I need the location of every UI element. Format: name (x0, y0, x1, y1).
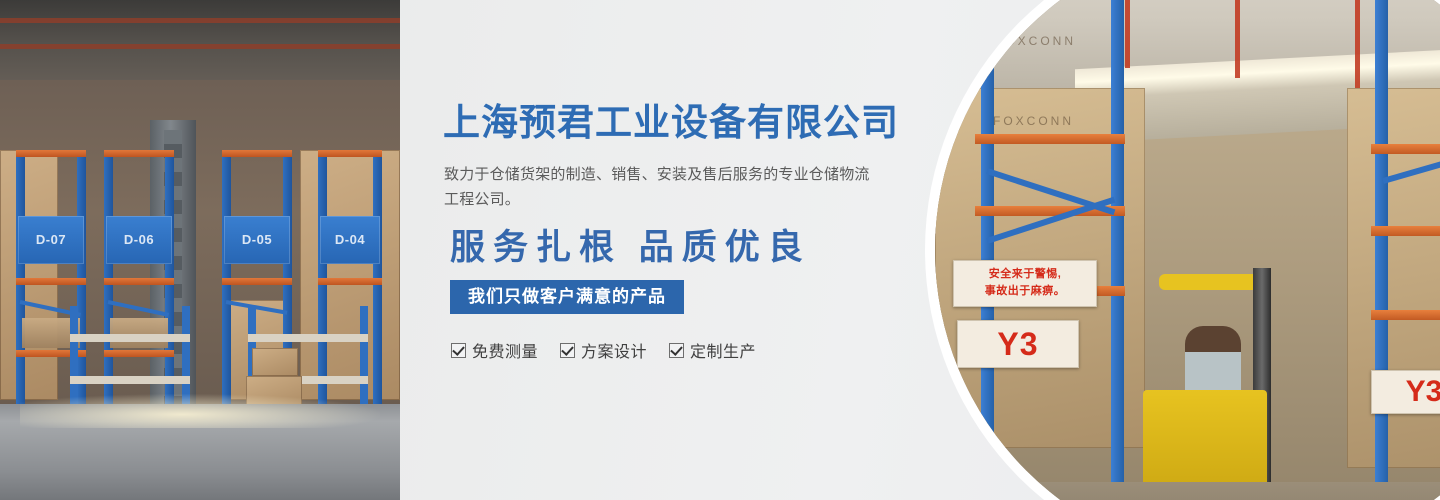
warehouse-drive-in-racking-photo: D-07 D-06 D-05 (0, 0, 400, 500)
aisle-marker-text: Y3 (958, 321, 1078, 367)
warehouse-floor (935, 482, 1440, 500)
checkbox-checked-icon (451, 343, 466, 358)
feature-item-free-measurement: 免费测量 (451, 338, 538, 362)
carton-brand-label: FOXCONN (995, 34, 1076, 48)
aisle-marker-sign: Y3 (957, 320, 1079, 368)
bay-label-text: D-04 (320, 216, 380, 264)
feature-item-custom-production: 定制生产 (669, 338, 756, 362)
bay-label-plate: D-07 (18, 216, 84, 264)
sprinkler-pipe (1355, 0, 1360, 88)
rack-beam (104, 150, 174, 157)
rack-beam (1371, 310, 1440, 320)
cta-button[interactable]: 我们只做客户满意的产品 (450, 280, 684, 314)
rack-upright (981, 0, 994, 500)
bay-label-plate: D-04 (320, 216, 380, 264)
forklift-overhead-guard (1159, 274, 1259, 290)
feature-label: 方案设计 (581, 338, 647, 362)
ceiling-pipe (0, 44, 400, 49)
sprinkler-pipe (1125, 0, 1130, 68)
bay-label-text: D-05 (224, 216, 290, 264)
feature-label: 定制生产 (690, 338, 756, 362)
floor-light-reflection (20, 394, 380, 428)
rack-beam (16, 278, 86, 285)
banner-content: 上海预君工业设备有限公司 致力于仓储货架的制造、销售、安装及售后服务的专业仓储物… (443, 0, 913, 500)
rack-beam (1371, 144, 1440, 154)
rack-beam (222, 150, 292, 157)
company-description: 致力于仓储货架的制造、销售、安装及售后服务的专业仓储物流工程公司。 (444, 162, 874, 212)
carton-brand-label: FOXCONN (993, 114, 1074, 128)
rack-beam (16, 150, 86, 157)
photo-inner: FOXCONN FOXCONN 安全来于警惕, 事故出于麻痹。 Y3 (935, 0, 1440, 500)
checkbox-checked-icon (560, 343, 575, 358)
ceiling-pipe (0, 18, 400, 23)
rack-beam (104, 278, 174, 285)
rack-beam (1371, 226, 1440, 236)
rack-beam (318, 278, 382, 285)
feature-label: 免费测量 (472, 338, 538, 362)
bay-label-plate: D-05 (224, 216, 290, 264)
rack-upright (1375, 0, 1388, 500)
feature-list: 免费测量 方案设计 定制生产 (451, 338, 756, 362)
bay-label-text: D-07 (18, 216, 84, 264)
feature-item-scheme-design: 方案设计 (560, 338, 647, 362)
forklift-operator (1185, 326, 1241, 400)
safety-sign-line-1: 安全来于警惕, (954, 266, 1096, 283)
safety-sign-line-2: 事故出于麻痹。 (954, 283, 1096, 300)
rack-beam (318, 150, 382, 157)
carton (252, 348, 298, 376)
company-slogan: 服务扎根 品质优良 (450, 226, 811, 270)
aisle-marker-text: Y3 (1372, 371, 1440, 413)
rack-beam (222, 278, 292, 285)
hero-banner: D-07 D-06 D-05 (0, 0, 1440, 500)
rack-shelf (70, 334, 190, 342)
bay-label-plate: D-06 (106, 216, 172, 264)
company-title: 上海预君工业设备有限公司 (443, 103, 899, 143)
warehouse-pallet-racking-forklift-photo: FOXCONN FOXCONN 安全来于警惕, 事故出于麻痹。 Y3 (935, 0, 1440, 500)
rack-shelf (70, 376, 190, 384)
checkbox-checked-icon (669, 343, 684, 358)
bay-label-text: D-06 (106, 216, 172, 264)
rack-beam (975, 134, 1125, 144)
safety-sign: 安全来于警惕, 事故出于麻痹。 (953, 260, 1097, 307)
aisle-marker-sign-secondary: Y3 (1371, 370, 1440, 414)
sprinkler-pipe (1235, 0, 1240, 78)
rack-upright (1111, 0, 1124, 500)
rack-shelf (248, 334, 368, 342)
